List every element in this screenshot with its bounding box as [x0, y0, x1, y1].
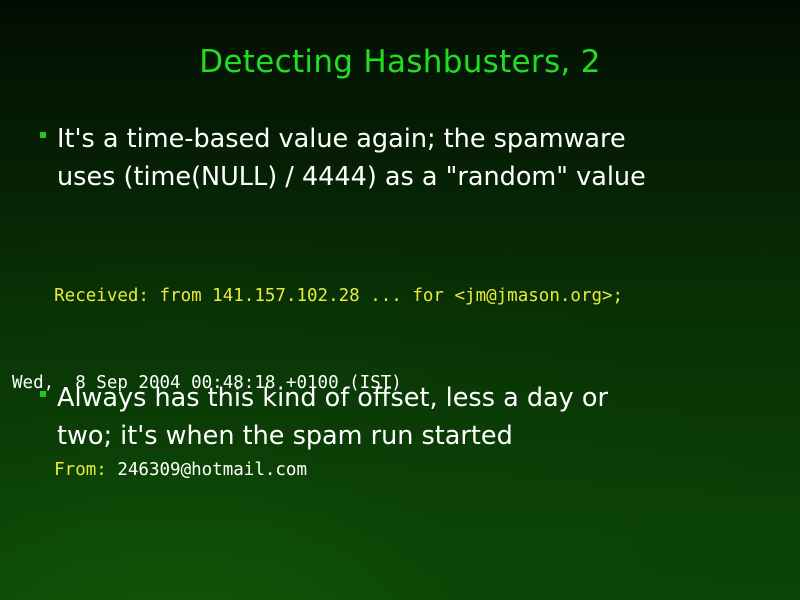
- code-blank-line: [12, 543, 792, 563]
- bullet-item-1: It's a time-based value again; the spamw…: [40, 120, 770, 196]
- bullet-item-2: Always has this kind of offset, less a d…: [40, 379, 770, 455]
- bullet-1-line-1: It's a time-based value again; the spamw…: [57, 120, 646, 158]
- square-bullet-icon: [40, 379, 54, 397]
- slide-content: Detecting Hashbusters, 2 It's a time-bas…: [0, 0, 800, 600]
- bullet-row: It's a time-based value again; the spamw…: [40, 120, 770, 196]
- code-from-label: From:: [12, 460, 117, 480]
- bullet-row: Always has this kind of offset, less a d…: [40, 379, 770, 455]
- page-title: Detecting Hashbusters, 2: [0, 44, 800, 80]
- code-from-value: 246309@hotmail.com: [117, 460, 307, 480]
- bullet-1-line-2: uses (time(NULL) / 4444) as a "random" v…: [57, 158, 646, 196]
- code-line-from: From: 246309@hotmail.com: [12, 456, 792, 485]
- bullet-2-line-2: two; it's when the spam run started: [57, 417, 608, 455]
- slide-canvas: Detecting Hashbusters, 2 It's a time-bas…: [0, 0, 800, 600]
- bullet-text-2: Always has this kind of offset, less a d…: [54, 379, 608, 455]
- bullet-2-line-1: Always has this kind of offset, less a d…: [57, 379, 608, 417]
- square-bullet-icon: [40, 120, 54, 138]
- bullet-text-1: It's a time-based value again; the spamw…: [54, 120, 646, 196]
- code-line-received: Received: from 141.157.102.28 ... for <j…: [12, 282, 792, 311]
